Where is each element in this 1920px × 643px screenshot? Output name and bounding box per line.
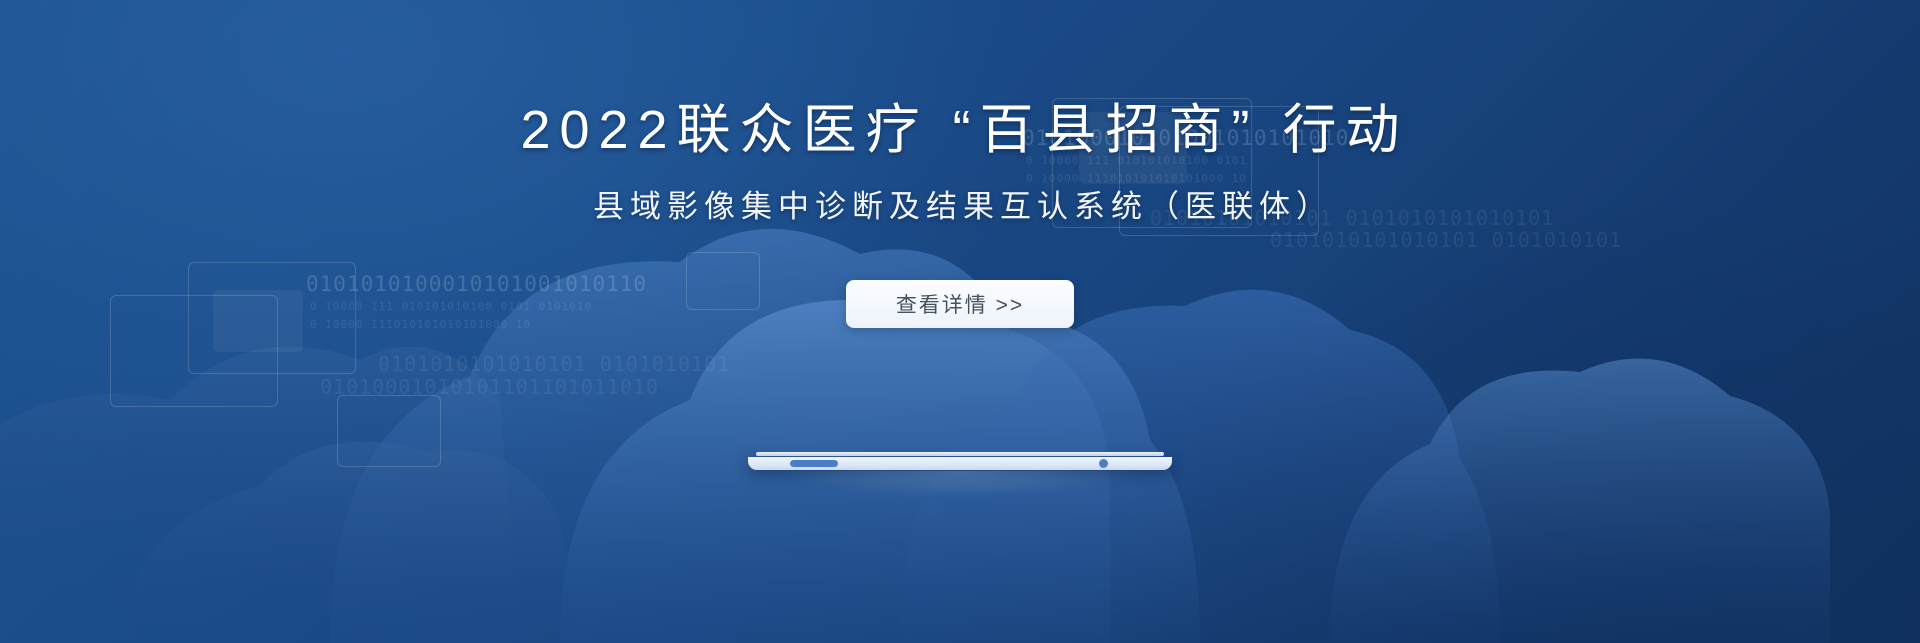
laptop-lid-edge	[756, 452, 1164, 456]
cta-container: 查看详情 >>	[846, 280, 1074, 328]
view-details-button[interactable]: 查看详情 >>	[846, 280, 1074, 328]
banner-title: 2022联众医疗 “百县招商” 行动	[511, 103, 1408, 157]
banner-content: 2022联众医疗 “百县招商” 行动 县域影像集中诊断及结果互认系统（医联体） …	[0, 0, 1920, 643]
laptop-device-illustration	[748, 452, 1172, 474]
banner-subtitle: 县域影像集中诊断及结果互认系统（医联体）	[587, 191, 1333, 222]
laptop-indicator-dot	[1099, 459, 1108, 468]
laptop-indicator-bar	[790, 460, 838, 467]
promo-banner: 0101010100010101001010110 0 10000 111 01…	[0, 0, 1920, 643]
laptop-reflection	[778, 471, 1142, 497]
